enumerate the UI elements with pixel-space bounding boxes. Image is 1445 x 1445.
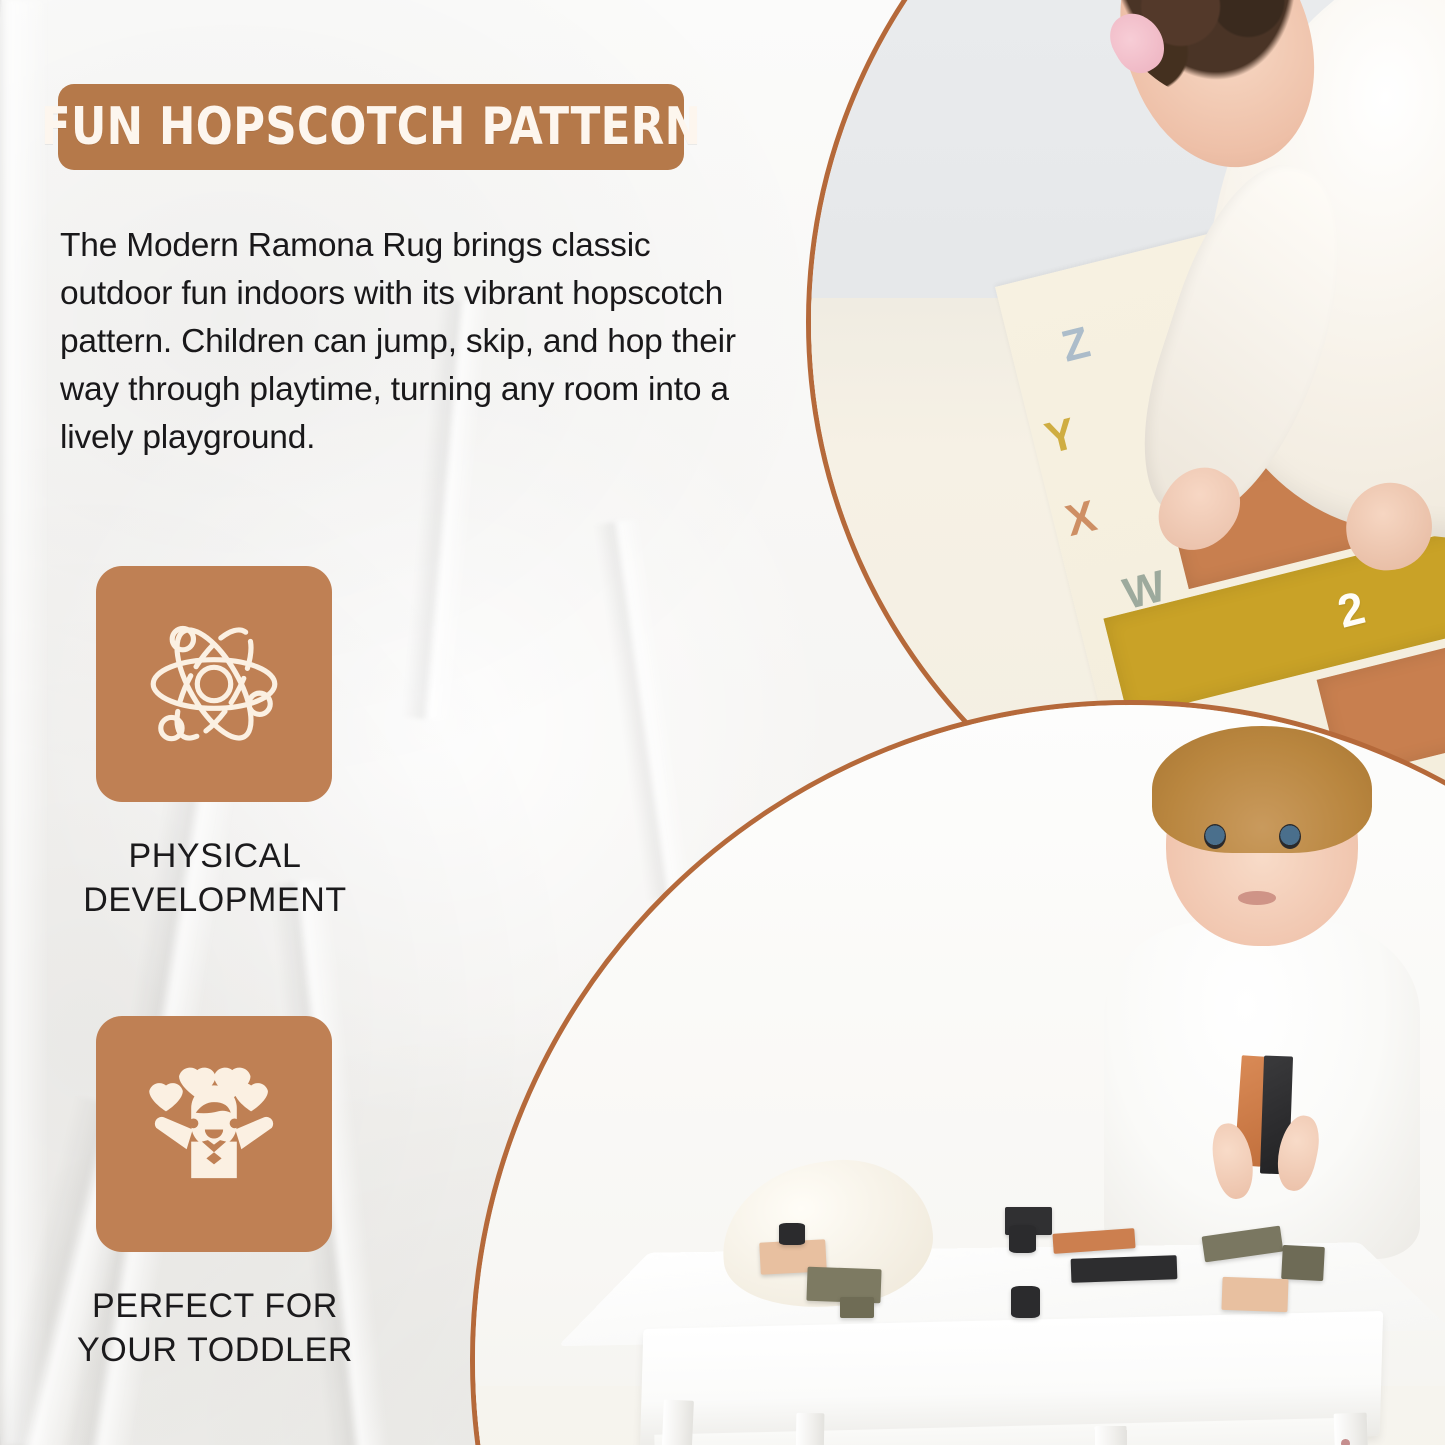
olive-wedge bbox=[840, 1297, 874, 1318]
feature-icon-box bbox=[96, 1016, 332, 1252]
rug-letter: Z bbox=[1057, 317, 1095, 372]
black-cylinder-2 bbox=[1009, 1225, 1037, 1253]
description-paragraph: The Modern Ramona Rug brings classic out… bbox=[60, 222, 760, 462]
feature-label: PERFECT FOR YOUR TODDLER bbox=[0, 1284, 430, 1372]
feature-label-line-2: YOUR TODDLER bbox=[0, 1328, 430, 1372]
bottom-photo-scene: 9864572NMLO bbox=[470, 700, 1445, 1445]
feature-icon-box bbox=[96, 566, 332, 802]
feature-label-line-1: PHYSICAL bbox=[0, 834, 430, 878]
feature-label-line-2: DEVELOPMENT bbox=[0, 878, 430, 922]
peach-arch-block-2 bbox=[1222, 1277, 1289, 1312]
heart-icon bbox=[149, 1083, 183, 1111]
rug-letter: X bbox=[1061, 491, 1102, 547]
boy-blond-hair bbox=[1152, 726, 1372, 853]
happy-child-hearts-icon bbox=[138, 1058, 290, 1210]
black-cylinder-3 bbox=[1011, 1286, 1040, 1318]
toddler-girl bbox=[1101, 0, 1445, 641]
table-leg bbox=[1095, 1426, 1131, 1445]
heart-icon bbox=[234, 1083, 268, 1111]
title-badge: FUN HOPSCOTCH PATTERN bbox=[58, 84, 684, 170]
feature-physical-development: PHYSICAL DEVELOPMENT bbox=[0, 566, 430, 922]
photo-boy-at-play-table: 9864572NMLO bbox=[470, 700, 1445, 1445]
feature-perfect-for-toddler: PERFECT FOR YOUR TODDLER bbox=[0, 1016, 430, 1372]
rug-letter: Y bbox=[1040, 408, 1081, 464]
infographic-canvas: 1097654231DZYXWO bbox=[0, 0, 1445, 1445]
atom-icon bbox=[138, 608, 290, 760]
black-bar-long bbox=[1070, 1255, 1176, 1282]
olive-cube bbox=[1281, 1245, 1325, 1281]
table-screw bbox=[1341, 1439, 1350, 1445]
black-cylinder-1 bbox=[779, 1223, 805, 1245]
feature-label-line-1: PERFECT FOR bbox=[0, 1284, 430, 1328]
boy-mouth bbox=[1238, 891, 1276, 905]
boy-left-eye bbox=[1204, 824, 1226, 849]
page-title: FUN HOPSCOTCH PATTERN bbox=[41, 97, 702, 157]
feature-label: PHYSICAL DEVELOPMENT bbox=[0, 834, 430, 922]
